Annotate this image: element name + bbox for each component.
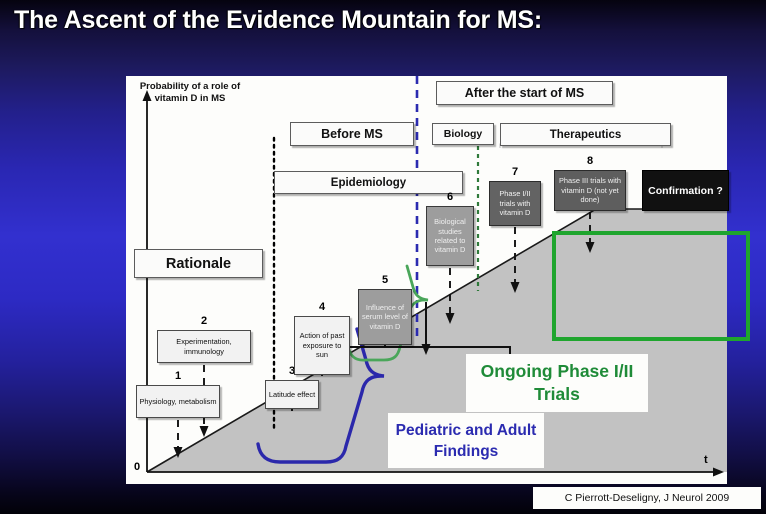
- evidence-box-2: Experimentation, immunology: [157, 330, 251, 363]
- evidence-box-3: Latitude effect: [265, 380, 319, 409]
- evidence-number-8: 8: [554, 155, 626, 167]
- axis-origin-label: 0: [134, 461, 140, 473]
- evidence-number-1: 1: [136, 370, 220, 382]
- evidence-number-6: 6: [426, 191, 474, 203]
- x-axis-label: t: [704, 454, 708, 466]
- citation-label: C Pierrott-Deseligny, J Neurol 2009: [533, 487, 761, 509]
- down-arrow-icon-2: [200, 426, 209, 437]
- evidence-box-8: Phase III trials with vitamin D (not yet…: [554, 170, 626, 211]
- callout-ongoing-trials: Ongoing Phase I/II Trials: [466, 354, 648, 412]
- chart-panel: Probability of a role of vitamin D in MS…: [126, 76, 727, 484]
- evidence-number-2: 2: [157, 315, 251, 327]
- evidence-box-5: Influence of serum level of vitamin D: [358, 289, 412, 345]
- evidence-number-5: 5: [358, 274, 412, 286]
- y-axis-label: Probability of a role of vitamin D in MS: [130, 81, 250, 104]
- evidence-box-6: Biological studies related to vitamin D: [426, 206, 474, 266]
- header-rationale: Rationale: [134, 249, 263, 278]
- page-title: The Ascent of the Evidence Mountain for …: [14, 6, 542, 35]
- header-after-ms: After the start of MS: [436, 81, 613, 105]
- slide-canvas: The Ascent of the Evidence Mountain for …: [0, 0, 766, 514]
- evidence-box-1: Physiology, metabolism: [136, 385, 220, 418]
- header-biology: Biology: [432, 123, 494, 145]
- evidence-box-7: Phase I/II trials with vitamin D: [489, 181, 541, 226]
- evidence-number-7: 7: [489, 166, 541, 178]
- header-therapeutics: Therapeutics: [500, 123, 671, 146]
- header-before-ms: Before MS: [290, 122, 414, 146]
- evidence-number-4: 4: [294, 301, 350, 313]
- evidence-box-4: Action of past exposure to sun: [294, 316, 350, 375]
- confirmation-box: Confirmation ?: [642, 170, 729, 211]
- callout-pediatric-adult-findings: Pediatric and Adult Findings: [388, 413, 544, 468]
